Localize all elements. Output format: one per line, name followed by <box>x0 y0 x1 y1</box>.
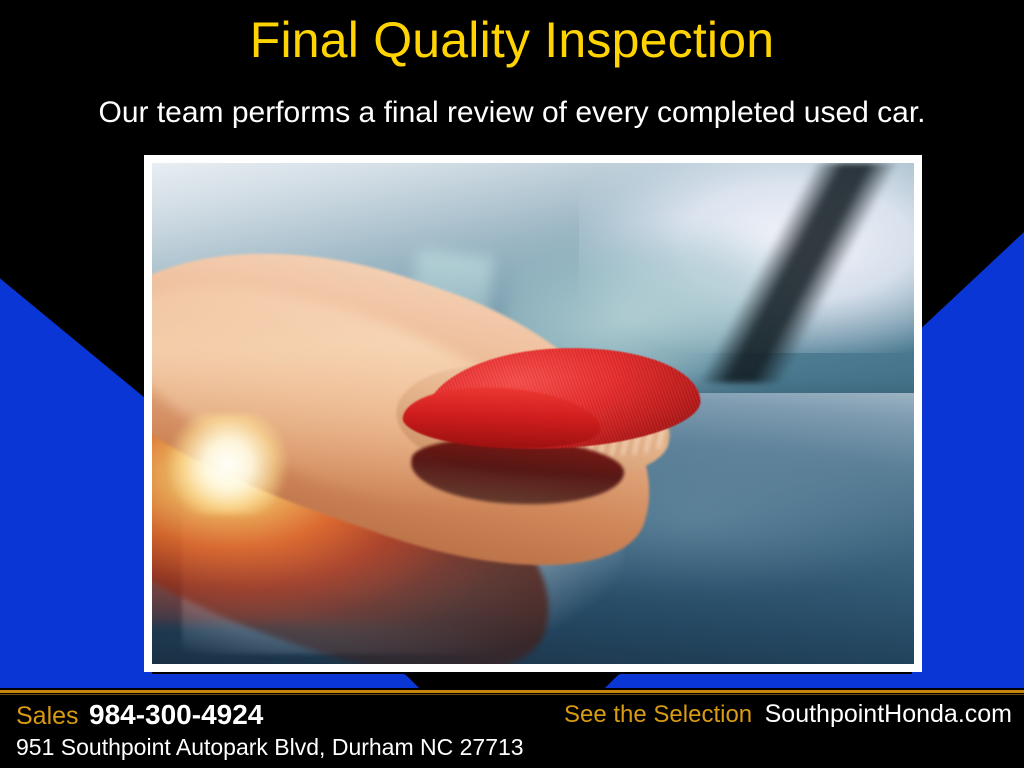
dealer-website-link[interactable]: SouthpointHonda.com <box>765 700 1012 728</box>
bottom-band-notch <box>396 673 628 689</box>
sales-label: Sales <box>16 702 79 730</box>
footer-divider-shadow <box>0 694 1024 695</box>
footer-contact-block: Sales 984-300-4924 951 Southpoint Autopa… <box>16 700 524 761</box>
photo-frame <box>144 155 922 672</box>
blue-wedge-left <box>0 270 152 688</box>
page-subtitle: Our team performs a final review of ever… <box>0 96 1024 129</box>
footer-divider <box>0 690 1024 693</box>
footer-bar: Sales 984-300-4924 951 Southpoint Autopa… <box>0 696 1024 768</box>
blue-wedge-right <box>912 232 1024 688</box>
footer-cta-block: See the Selection SouthpointHonda.com <box>564 700 1012 729</box>
dealer-address: 951 Southpoint Autopark Blvd, Durham NC … <box>16 735 524 760</box>
sales-phone-number[interactable]: 984-300-4924 <box>89 699 263 730</box>
footer-phone-line: Sales 984-300-4924 <box>16 700 524 729</box>
photo-layer-sun-core <box>167 414 289 514</box>
page-title: Final Quality Inspection <box>0 14 1024 67</box>
photo-car-detailing <box>152 163 914 664</box>
slide-root: Final Quality Inspection Our team perfor… <box>0 0 1024 768</box>
cta-label: See the Selection <box>564 701 752 728</box>
